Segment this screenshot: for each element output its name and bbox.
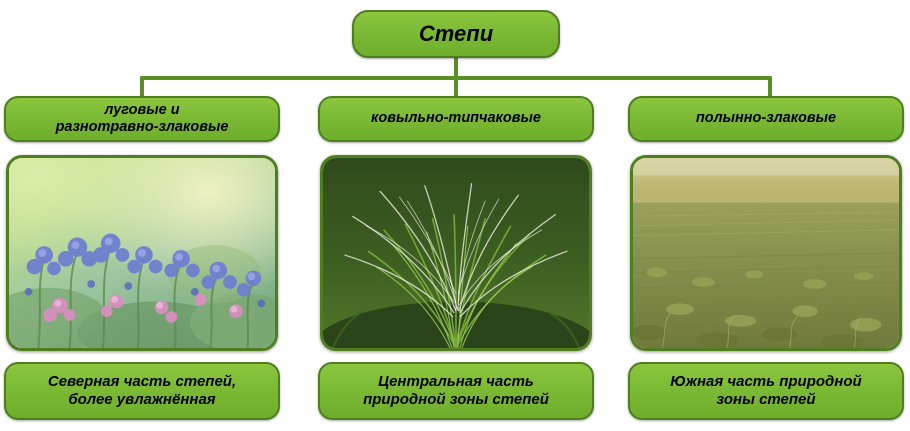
description-label-3: Южная часть природной зоны степей [670,373,861,408]
category-label-3: полынно-злаковые [696,110,836,127]
description-node-3: Южная часть природной зоны степей [628,362,904,420]
category-node-3: полынно-злаковые [628,96,904,142]
category-node-1: луговые и разнотравно-злаковые [4,96,280,142]
description-label-2: Центральная часть природной зоны степей [363,373,549,408]
photo-meadow-steppe-flowers [6,155,278,351]
photo-wormwood-grass-steppe [630,155,902,351]
description-node-1: Северная часть степей, более увлажнённая [4,362,280,420]
root-label: Степи [419,21,493,47]
category-label-1: луговые и разнотравно-злаковые [56,102,229,136]
root-node: Степи [352,10,560,58]
category-node-2: ковыльно-типчаковые [318,96,594,142]
description-label-1: Северная часть степей, более увлажнённая [48,373,236,408]
photo-feather-grass-steppe [320,155,592,351]
diagram-canvas: Степи луговые и разнотравно-злаковые ков… [0,0,910,431]
description-node-2: Центральная часть природной зоны степей [318,362,594,420]
category-label-2: ковыльно-типчаковые [371,110,541,127]
